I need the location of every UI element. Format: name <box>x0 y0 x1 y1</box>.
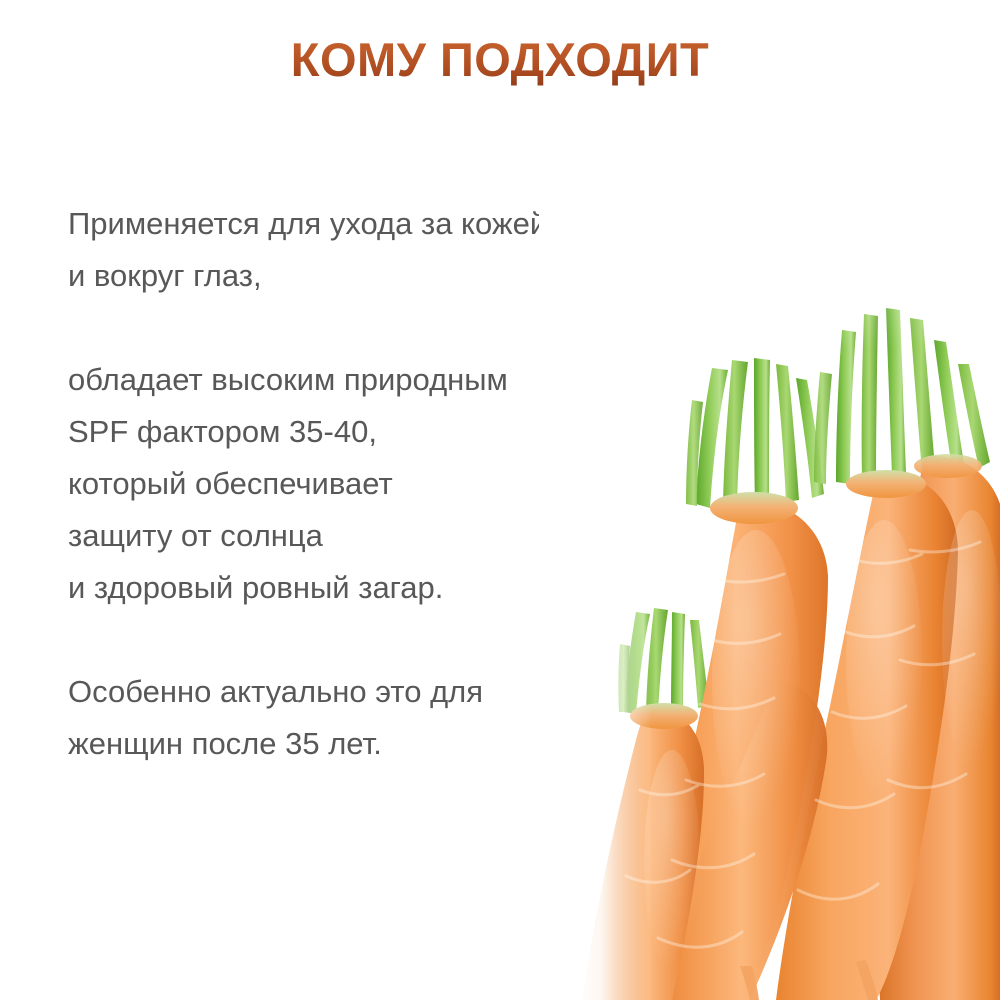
body-line: который обеспечивает <box>68 458 688 510</box>
body-line: Применяется для ухода за кожей <box>68 198 688 250</box>
body-line: обладает высоким природным <box>68 354 688 406</box>
body-line: женщин после 35 лет. <box>68 718 688 770</box>
clipped-letter: й <box>530 198 539 250</box>
body-copy: Применяется для ухода за кожей и вокруг … <box>68 198 688 770</box>
poster-canvas: КОМУ ПОДХОДИТ Применяется для ухода за к… <box>0 0 1000 1000</box>
paragraph-spf: обладает высоким природным SPF фактором … <box>68 354 688 614</box>
paragraph-audience: Особенно актуально это для женщин после … <box>68 666 688 770</box>
body-line: и здоровый ровный загар. <box>68 562 688 614</box>
page-title: КОМУ ПОДХОДИТ <box>0 31 1000 89</box>
body-line: и вокруг глаз, <box>68 250 688 302</box>
body-line: SPF фактором 35-40, <box>68 406 688 458</box>
paragraph-usage: Применяется для ухода за кожей и вокруг … <box>68 198 688 302</box>
body-line: Особенно актуально это для <box>68 666 688 718</box>
body-line: защиту от солнца <box>68 510 688 562</box>
